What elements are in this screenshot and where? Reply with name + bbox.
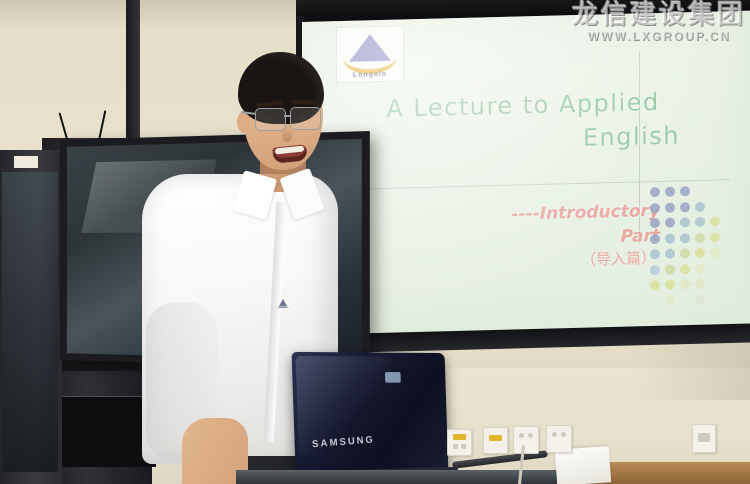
wall-plate-power[interactable] [546,425,572,453]
eyeglasses-bridge [284,115,291,117]
rack-glass-door [2,172,58,472]
eyebrow-right [291,100,317,105]
wall-plate-power[interactable] [513,426,539,454]
eyeglasses-right-lens [290,107,321,130]
laptop-badge-sticker [385,372,401,383]
wall-plate-switch[interactable] [692,424,716,453]
eyeglasses-left-lens [255,108,286,131]
laptop-lid: SAMSUNG [292,352,449,478]
desk-edge [236,470,566,484]
lecture-room-photo: Longxin A Lecture to Applied English ---… [0,0,750,484]
wall-plate-data[interactable] [447,429,472,456]
samsung-laptop[interactable]: SAMSUNG [292,352,449,484]
rack-label [14,156,38,168]
wall-plate-data[interactable] [483,427,508,454]
shirt-emblem-icon [276,297,290,311]
nose [282,126,292,142]
ceiling-edge [0,0,300,26]
